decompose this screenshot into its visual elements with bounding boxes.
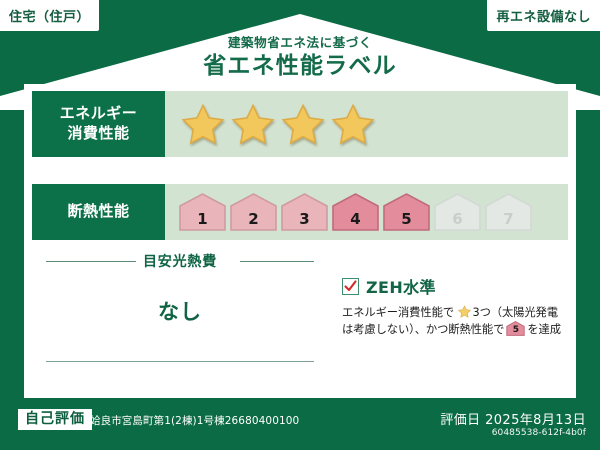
star-rating — [181, 103, 375, 145]
zeh-description: エネルギー消費性能で 3つ（太陽光発電は考慮しない）、かつ断熱性能で 5 を達成 — [342, 304, 564, 338]
insulation-performance-row: 断熱性能 1234567 — [32, 184, 568, 240]
energy-performance-label: エネルギー 消費性能 — [32, 91, 165, 157]
label-footer: 自己評価 姶良市宮島町第1(2棟)1号棟26680400100 評価日 2025… — [0, 398, 600, 450]
utility-cost-value: なし — [46, 296, 314, 326]
house-icon: 5 — [506, 321, 525, 336]
zeh-desc-part3: を達成 — [527, 323, 561, 336]
utility-cost-panel: 目安光熱費 なし — [46, 252, 314, 370]
heading-rule-left — [46, 261, 150, 262]
insulation-level-4: 4 — [332, 193, 379, 231]
evaluation-id: 60485538-612f-4b0f — [492, 428, 586, 438]
star-icon — [458, 305, 471, 318]
label-body-card: エネルギー 消費性能 断熱性能 1234567 目安光熱費 なし — [24, 84, 576, 398]
insulation-performance-value: 1234567 — [165, 184, 568, 240]
insulation-level-number: 4 — [332, 212, 379, 227]
insulation-level-7: 7 — [485, 193, 532, 231]
checkmark-icon — [344, 280, 357, 293]
star-icon — [331, 103, 375, 145]
star-icon — [181, 103, 225, 145]
self-evaluation-badge: 自己評価 — [18, 409, 92, 430]
insulation-level-scale: 1234567 — [179, 193, 532, 231]
energy-performance-label: 建築物省エネ法に基づく 省エネ性能ラベル 住宅（住戸） 再エネ設備なし エネルギ… — [0, 0, 600, 450]
heading-rule-right — [240, 261, 314, 262]
zeh-panel: ZEH水準 エネルギー消費性能で 3つ（太陽光発電は考慮しない）、かつ断熱性能で… — [342, 274, 564, 338]
utility-cost-bottom-rule — [46, 361, 314, 362]
star-icon — [281, 103, 325, 145]
evaluation-date: 評価日 2025年8月13日 — [440, 409, 586, 428]
insulation-performance-label: 断熱性能 — [32, 184, 165, 240]
insulation-level-6: 6 — [434, 193, 481, 231]
energy-performance-label-line2: 消費性能 — [67, 124, 129, 144]
label-title-block: 建築物省エネ法に基づく 省エネ性能ラベル — [0, 36, 600, 81]
page-title: 省エネ性能ラベル — [0, 52, 600, 81]
house-level-number: 5 — [506, 326, 525, 335]
energy-performance-value — [165, 91, 568, 157]
label-subtitle: 建築物省エネ法に基づく — [0, 36, 600, 50]
zeh-desc-part1: エネルギー消費性能で — [342, 306, 454, 319]
zeh-title: ZEH水準 — [366, 274, 436, 298]
badge-building-type: 住宅（住戸） — [0, 0, 99, 31]
insulation-level-number: 3 — [281, 212, 328, 227]
star-icon — [231, 103, 275, 145]
insulation-performance-label-line1: 断熱性能 — [67, 202, 129, 222]
insulation-level-number: 6 — [434, 212, 481, 227]
insulation-level-number: 5 — [383, 212, 430, 227]
insulation-level-1: 1 — [179, 193, 226, 231]
energy-performance-label-line1: エネルギー — [60, 104, 138, 124]
insulation-level-5: 5 — [383, 193, 430, 231]
insulation-level-number: 7 — [485, 212, 532, 227]
utility-cost-heading: 目安光熱費 — [136, 251, 224, 271]
insulation-level-number: 1 — [179, 212, 226, 227]
zeh-title-row: ZEH水準 — [342, 274, 564, 298]
energy-performance-row: エネルギー 消費性能 — [32, 91, 568, 157]
insulation-level-3: 3 — [281, 193, 328, 231]
utility-cost-heading-row: 目安光熱費 — [46, 252, 314, 270]
zeh-checkbox[interactable] — [342, 278, 359, 295]
insulation-level-number: 2 — [230, 212, 277, 227]
property-address: 姶良市宮島町第1(2棟)1号棟26680400100 — [90, 413, 299, 428]
insulation-level-2: 2 — [230, 193, 277, 231]
badge-renewable-energy: 再エネ設備なし — [487, 0, 600, 31]
